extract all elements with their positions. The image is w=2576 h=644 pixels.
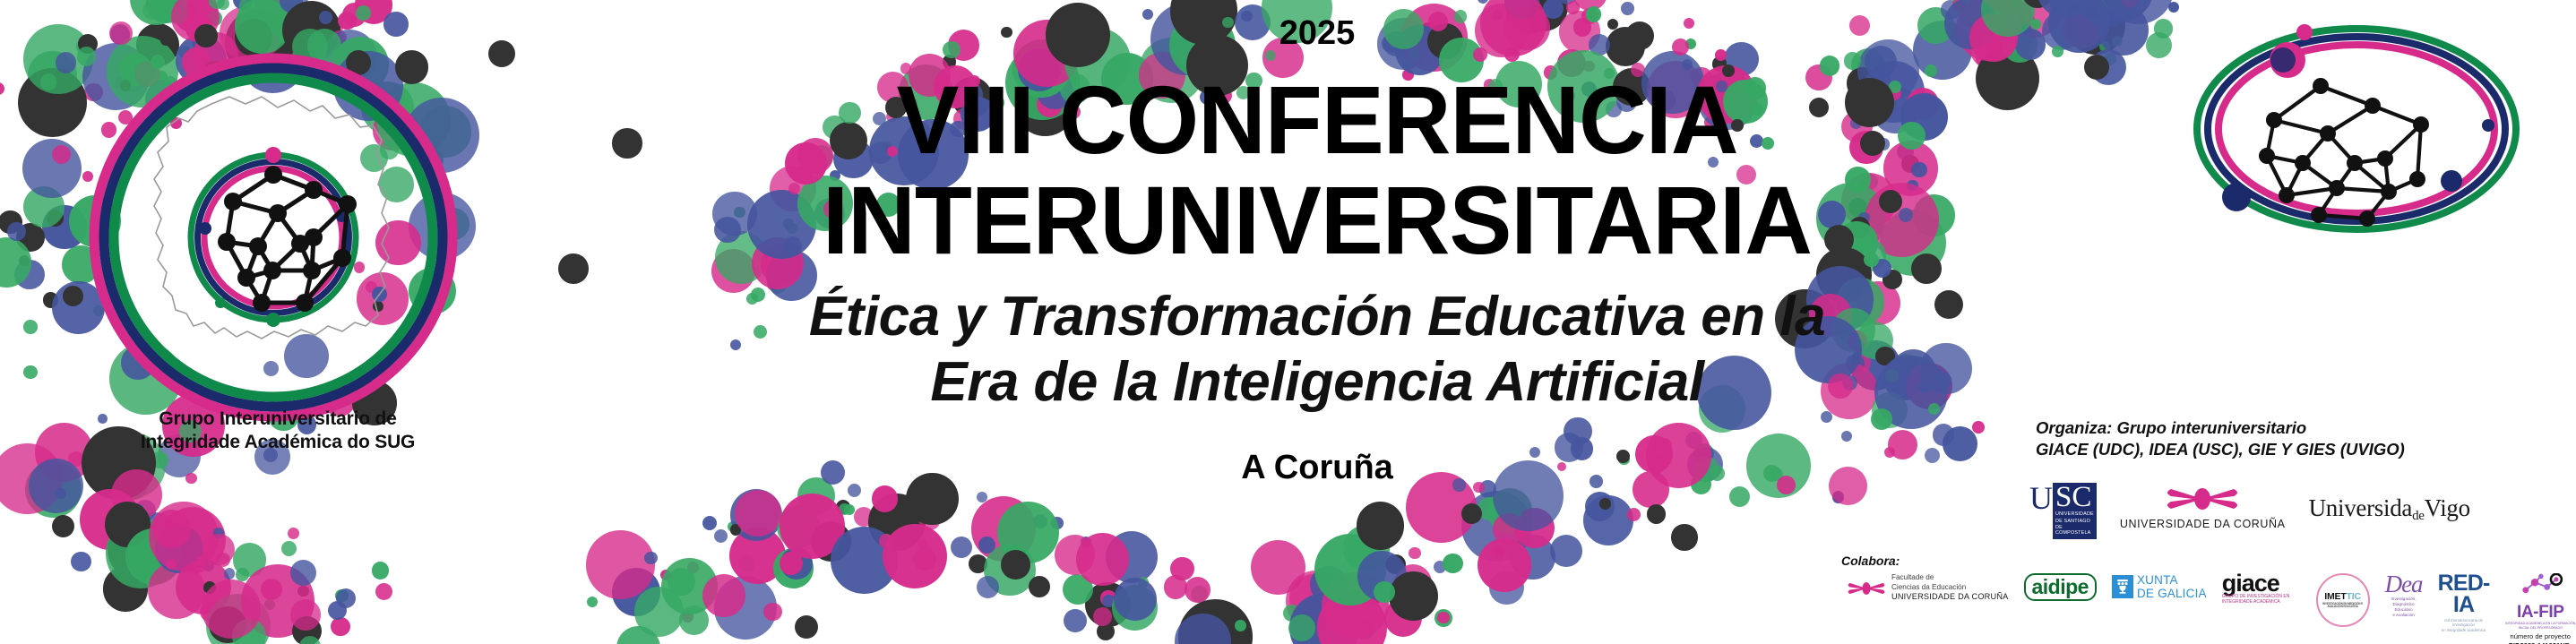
decorative-bubble bbox=[1175, 614, 1231, 644]
decorative-bubble bbox=[2101, 0, 2122, 12]
decorative-bubble bbox=[811, 521, 851, 562]
decorative-bubble bbox=[1055, 535, 1095, 575]
decorative-bubble bbox=[714, 529, 728, 543]
decorative-bubble bbox=[290, 599, 322, 631]
decorative-bubble bbox=[1097, 623, 1115, 640]
decorative-bubble bbox=[19, 255, 30, 266]
decorative-bubble bbox=[1064, 609, 1087, 632]
decorative-bubble bbox=[1478, 0, 1488, 4]
decorative-bubble bbox=[0, 82, 4, 95]
decorative-bubble bbox=[763, 603, 781, 621]
decorative-bubble bbox=[682, 611, 694, 623]
decorative-bubble bbox=[1832, 491, 1845, 503]
decorative-bubble bbox=[661, 558, 718, 614]
decorative-bubble bbox=[1941, 0, 1960, 20]
decorative-bubble bbox=[1872, 392, 1908, 428]
decorative-bubble bbox=[216, 553, 230, 567]
decorative-bubble bbox=[2005, 36, 2024, 55]
decorative-bubble bbox=[738, 555, 755, 572]
decorative-bubble bbox=[1310, 566, 1348, 604]
decorative-bubble bbox=[1854, 239, 1886, 271]
decorative-bubble bbox=[777, 505, 820, 548]
decorative-bubble bbox=[166, 559, 177, 570]
decorative-bubble bbox=[767, 279, 778, 290]
decorative-bubble bbox=[1647, 504, 1667, 524]
decorative-bubble bbox=[1883, 141, 1939, 196]
decorative-bubble bbox=[111, 469, 162, 520]
decorative-bubble bbox=[831, 527, 898, 594]
decorative-bubble bbox=[1063, 574, 1093, 605]
decorative-bubble bbox=[1969, 13, 2018, 62]
decorative-bubble bbox=[2042, 12, 2081, 50]
organiza-block: Organiza: Grupo interuniversitario GIACE… bbox=[2036, 417, 2405, 461]
decorative-bubble bbox=[971, 496, 1037, 562]
conference-title-line1: VIII CONFERENCIA bbox=[805, 70, 1831, 170]
decorative-bubble bbox=[730, 339, 741, 350]
conference-year: 2025 bbox=[788, 16, 1846, 50]
decorative-bubble bbox=[1874, 356, 1948, 429]
decorative-bubble bbox=[785, 562, 796, 572]
decorative-bubble bbox=[209, 0, 225, 9]
decorative-bubble bbox=[1981, 34, 1992, 45]
decorative-bubble bbox=[880, 534, 892, 546]
decorative-bubble bbox=[951, 537, 972, 558]
decorative-bubble bbox=[1493, 513, 1525, 545]
xunta-line2: DE GALICIA bbox=[2137, 587, 2207, 600]
decorative-bubble bbox=[921, 494, 937, 511]
decorative-bubble bbox=[1883, 356, 1927, 399]
decorative-bubble bbox=[977, 492, 988, 503]
uvigo-logo: UniversidadeVigo bbox=[2309, 494, 2470, 524]
decorative-bubble bbox=[612, 128, 642, 158]
decorative-bubble bbox=[1898, 122, 1926, 150]
ia-fip-logo: IA-FIP INTEGRIDAD ACADÉMICA EN LA FORMAC… bbox=[2504, 573, 2576, 644]
giace-mark: giace bbox=[2222, 573, 2301, 594]
fce-bowtie-icon bbox=[1846, 581, 1887, 596]
decorative-bubble bbox=[1343, 525, 1390, 571]
decorative-bubble bbox=[1863, 61, 1925, 123]
decorative-bubble bbox=[233, 543, 267, 577]
decorative-bubble bbox=[2084, 6, 2098, 20]
decorative-bubble bbox=[734, 207, 745, 219]
decorative-bubble bbox=[2011, 0, 2021, 8]
decorative-bubble bbox=[149, 502, 219, 571]
decorative-bubble bbox=[14, 260, 44, 289]
decorative-bubble bbox=[1872, 86, 1918, 133]
decorative-bubble bbox=[1322, 608, 1332, 619]
decorative-bubble bbox=[7, 222, 26, 241]
usc-box: SC UNIVERSIDADE DE SANTIAGO DE COMPOSTEL… bbox=[2053, 483, 2097, 539]
decorative-bubble bbox=[1621, 2, 1634, 15]
conference-title-line2: INTERUNIVERSITARIA bbox=[805, 170, 1831, 270]
udc-text: UNIVERSIDADE DA CORUÑA bbox=[2120, 518, 2286, 530]
decorative-bubble bbox=[2087, 0, 2153, 21]
decorative-bubble bbox=[913, 547, 936, 571]
decorative-bubble bbox=[1860, 131, 1885, 156]
decorative-bubble bbox=[1906, 363, 1952, 409]
decorative-bubble bbox=[1849, 217, 1871, 238]
xunta-de-galicia-logo: XUNTA DE GALICIA bbox=[2112, 573, 2207, 600]
xunta-shield-icon bbox=[2112, 575, 2133, 598]
decorative-bubble bbox=[209, 606, 246, 643]
giace-logo: giace GRUPO DE INVESTIGACIÓN EN INTEGRID… bbox=[2222, 573, 2301, 605]
decorative-bubble bbox=[335, 589, 348, 602]
decorative-bubble bbox=[1882, 270, 1902, 289]
idea-sub-line2: Diagnóstico Educativo bbox=[2385, 602, 2423, 613]
decorative-bubble bbox=[159, 507, 226, 573]
decorative-bubble bbox=[80, 489, 141, 550]
decorative-bubble bbox=[185, 473, 196, 484]
decorative-bubble bbox=[2104, 53, 2116, 65]
decorative-bubble bbox=[769, 276, 787, 294]
decorative-bubble bbox=[2063, 9, 2102, 48]
decorative-bubble bbox=[23, 320, 38, 334]
decorative-bubble bbox=[277, 0, 295, 17]
decorative-bubble bbox=[668, 568, 695, 596]
decorative-bubble bbox=[281, 541, 297, 556]
uvigo-part3: Vigo bbox=[2425, 494, 2470, 521]
decorative-bubble bbox=[200, 602, 220, 622]
decorative-bubble bbox=[1846, 355, 1864, 373]
decorative-bubble bbox=[612, 568, 660, 616]
organiza-line2: GIACE (UDC), IDEA (USC), GIE Y GIES (UVI… bbox=[2036, 439, 2405, 460]
usc-letter-u: U bbox=[2029, 483, 2053, 513]
decorative-bubble bbox=[1891, 349, 1937, 396]
decorative-bubble bbox=[1847, 67, 1879, 99]
decorative-bubble bbox=[997, 502, 1059, 563]
decorative-bubble bbox=[1925, 64, 1937, 77]
decorative-bubble bbox=[1317, 592, 1388, 644]
decorative-bubble bbox=[328, 601, 347, 620]
decorative-bubble bbox=[1849, 15, 1870, 36]
colabora-label: Colabora: bbox=[1841, 554, 1900, 568]
decorative-bubble bbox=[196, 556, 207, 567]
decorative-bubble bbox=[1841, 111, 1873, 142]
decorative-bubble bbox=[1901, 155, 1919, 173]
decorative-bubble bbox=[1572, 0, 1608, 11]
decorative-bubble bbox=[1913, 194, 1955, 236]
decorative-bubble bbox=[1943, 426, 1977, 461]
decorative-bubble bbox=[1566, 1, 1580, 14]
decorative-bubble bbox=[1033, 514, 1047, 528]
left-emblem-graphic bbox=[54, 18, 493, 457]
decorative-bubble bbox=[2002, 26, 2038, 62]
decorative-bubble bbox=[711, 249, 755, 293]
decorative-bubble bbox=[1874, 223, 1884, 234]
fce-line1: Facultade de bbox=[1891, 573, 2009, 583]
decorative-bubble bbox=[1952, 0, 1986, 19]
left-emblem-logo bbox=[54, 18, 493, 457]
idea-logo: Dea Investigación, Diagnóstico Educativo… bbox=[2385, 573, 2423, 618]
decorative-bubble bbox=[1492, 545, 1504, 558]
decorative-bubble bbox=[233, 0, 254, 10]
decorative-bubble bbox=[0, 237, 31, 287]
decorative-bubble bbox=[586, 530, 655, 599]
decorative-bubble bbox=[106, 519, 175, 588]
decorative-bubble bbox=[0, 210, 22, 235]
decorative-bubble bbox=[138, 520, 152, 535]
decorative-bubble bbox=[735, 490, 781, 537]
decorative-bubble bbox=[1504, 0, 1532, 17]
decorative-bubble bbox=[660, 570, 672, 581]
decorative-bubble bbox=[1100, 590, 1116, 605]
decorative-bubble bbox=[299, 636, 321, 644]
decorative-bubble bbox=[1178, 599, 1253, 644]
decorative-bubble bbox=[203, 561, 215, 572]
decorative-bubble bbox=[1887, 99, 1898, 109]
decorative-bubble bbox=[1857, 39, 1919, 101]
decorative-bubble bbox=[2006, 53, 2019, 65]
decorative-bubble bbox=[616, 626, 660, 644]
decorative-bubble bbox=[133, 504, 144, 516]
decorative-bubble bbox=[224, 568, 235, 579]
decorative-bubble bbox=[1354, 619, 1374, 640]
decorative-bubble bbox=[202, 580, 261, 639]
decorative-bubble bbox=[1934, 290, 1963, 319]
decorative-bubble bbox=[1550, 535, 1582, 567]
idea-mark: Dea bbox=[2385, 573, 2423, 595]
usc-sub-line2: DE SANTIAGO bbox=[2055, 519, 2090, 524]
facultade-ciencias-educacion-logo: Facultade de Ciencias da Educación UNIVE… bbox=[1846, 573, 2009, 603]
decorative-bubble bbox=[1514, 508, 1555, 548]
decorative-bubble bbox=[1900, 101, 1917, 118]
decorative-bubble bbox=[1357, 577, 1384, 605]
decorative-bubble bbox=[236, 568, 249, 581]
decorative-bubble bbox=[1865, 183, 1939, 257]
decorative-bubble bbox=[1928, 403, 1940, 415]
decorative-bubble bbox=[1848, 331, 1868, 351]
decorative-bubble bbox=[1854, 339, 1865, 350]
decorative-bubble bbox=[1976, 47, 2039, 110]
red-ia-mark: RED-IA bbox=[2438, 573, 2490, 616]
decorative-bubble bbox=[142, 1, 161, 20]
decorative-bubble bbox=[1114, 578, 1158, 622]
decorative-bubble bbox=[1033, 587, 1044, 597]
idea-sub-line3: e Avaliación bbox=[2385, 613, 2423, 618]
decorative-bubble bbox=[1907, 88, 1939, 120]
decorative-bubble bbox=[795, 615, 818, 639]
decorative-bubble bbox=[2052, 46, 2063, 57]
decorative-bubble bbox=[1933, 424, 1954, 445]
center-text-block: 2025 VIII CONFERENCIA INTERUNIVERSITARIA… bbox=[788, 16, 1846, 487]
decorative-bubble bbox=[2128, 0, 2139, 9]
decorative-bubble bbox=[280, 0, 302, 13]
imettic-mark-imet: IMET bbox=[2324, 591, 2346, 602]
decorative-bubble bbox=[52, 515, 74, 537]
decorative-bubble bbox=[1960, 3, 1985, 28]
decorative-bubble bbox=[746, 293, 758, 305]
decorative-bubble bbox=[712, 192, 757, 236]
decorative-bubble bbox=[839, 503, 849, 514]
decorative-bubble bbox=[1976, 0, 2036, 56]
decorative-bubble bbox=[2066, 0, 2125, 55]
decorative-bubble bbox=[644, 552, 657, 564]
decorative-bubble bbox=[1917, 7, 1954, 44]
decorative-bubble bbox=[1235, 620, 1246, 631]
decorative-bubble bbox=[1671, 524, 1697, 550]
decorative-bubble bbox=[84, 467, 101, 484]
decorative-bubble bbox=[1112, 585, 1158, 631]
decorative-bubble bbox=[2090, 49, 2126, 85]
decorative-bubble bbox=[1389, 571, 1438, 621]
decorative-bubble bbox=[751, 288, 765, 302]
decorative-bubble bbox=[1029, 576, 1050, 597]
ia-fip-mark: IA-FIP bbox=[2504, 604, 2576, 621]
decorative-bubble bbox=[23, 365, 38, 380]
decorative-bubble bbox=[1314, 534, 1386, 605]
decorative-bubble bbox=[1968, 12, 2029, 73]
decorative-bubble bbox=[1251, 540, 1305, 595]
left-emblem-caption: Grupo Interuniversitario de Integridade … bbox=[90, 408, 466, 453]
fce-line3: UNIVERSIDADE DA CORUÑA bbox=[1891, 592, 2009, 603]
decorative-bubble bbox=[1911, 253, 1942, 284]
decorative-bubble bbox=[634, 587, 684, 636]
colabora-logos-row: Facultade de Ciencias da Educación UNIVE… bbox=[1846, 573, 2576, 638]
decorative-bubble bbox=[1900, 93, 1948, 141]
aidipe-logo: aidipe bbox=[2024, 573, 2097, 601]
decorative-bubble bbox=[883, 524, 947, 588]
decorative-bubble bbox=[1490, 550, 1502, 562]
xunta-chalice-icon bbox=[2115, 578, 2131, 596]
decorative-bubble bbox=[1289, 574, 1340, 624]
decorative-bubble bbox=[253, 0, 300, 17]
xunta-line1: XUNTA bbox=[2137, 573, 2207, 587]
decorative-bubble bbox=[1001, 550, 1030, 580]
decorative-bubble bbox=[1409, 547, 1421, 560]
decorative-bubble bbox=[854, 507, 874, 528]
decorative-bubble bbox=[1890, 365, 1923, 399]
decorative-bubble bbox=[1385, 554, 1405, 574]
decorative-bubble bbox=[1884, 447, 1895, 458]
decorative-bubble bbox=[1283, 605, 1300, 622]
conference-banner: Grupo Interuniversitario de Integridade … bbox=[0, 0, 2576, 644]
decorative-bubble bbox=[1102, 595, 1115, 607]
imettic-logo: IMETTIC INVESTIGACIÓN EN MEDICIÓN E AVAL… bbox=[2316, 573, 2370, 627]
decorative-bubble bbox=[1925, 448, 1940, 463]
decorative-bubble bbox=[1918, 381, 1931, 393]
decorative-bubble bbox=[264, 599, 275, 610]
decorative-bubble bbox=[1936, 373, 1951, 387]
decorative-bubble bbox=[1911, 162, 1926, 177]
decorative-bubble bbox=[29, 459, 83, 513]
decorative-bubble bbox=[1164, 575, 1187, 598]
decorative-bubble bbox=[1408, 585, 1425, 602]
decorative-bubble bbox=[103, 566, 148, 611]
decorative-bubble bbox=[827, 538, 848, 559]
decorative-bubble bbox=[1972, 421, 1984, 433]
decorative-bubble bbox=[1858, 286, 1870, 297]
decorative-bubble bbox=[1478, 538, 1531, 592]
imettic-sub: INVESTIGACIÓN EN MEDICIÓN E AVALIACIÓN E… bbox=[2318, 603, 2368, 608]
decorative-bubble bbox=[1865, 46, 1897, 78]
decorative-bubble bbox=[1461, 491, 1532, 562]
decorative-bubble bbox=[1384, 598, 1423, 637]
decorative-bubble bbox=[1583, 495, 1633, 545]
left-emblem-caption-line2: Integridade Académica do SUG bbox=[90, 431, 466, 454]
decorative-bubble bbox=[1880, 73, 1891, 84]
decorative-bubble bbox=[217, 0, 229, 10]
decorative-bubble bbox=[1956, 0, 2021, 61]
decorative-bubble bbox=[978, 537, 995, 554]
decorative-bubble bbox=[714, 217, 741, 244]
uvigo-part1: Universida bbox=[2309, 494, 2412, 521]
decorative-bubble bbox=[774, 273, 785, 284]
decorative-bubble bbox=[2020, 24, 2031, 35]
usc-letters-sc: SC bbox=[2055, 484, 2091, 511]
decorative-bubble bbox=[1846, 284, 1859, 297]
decorative-bubble bbox=[71, 552, 91, 572]
decorative-bubble bbox=[2004, 41, 2023, 60]
decorative-bubble bbox=[155, 525, 203, 573]
left-emblem-caption-line1: Grupo Interuniversitario de bbox=[90, 408, 466, 431]
decorative-bubble bbox=[1907, 180, 1917, 191]
decorative-bubble bbox=[702, 516, 718, 531]
decorative-bubble bbox=[1322, 572, 1388, 639]
red-ia-sub-line2: en integridade académica bbox=[2438, 628, 2490, 633]
decorative-bubble bbox=[1081, 537, 1091, 547]
decorative-bubble bbox=[1850, 117, 1862, 129]
decorative-bubble bbox=[1510, 535, 1555, 580]
decorative-bubble bbox=[1290, 614, 1310, 634]
decorative-bubble bbox=[134, 527, 147, 540]
decorative-bubble bbox=[2015, 29, 2046, 59]
decorative-bubble bbox=[1557, 0, 1578, 4]
decorative-bubble bbox=[1845, 167, 1871, 193]
decorative-bubble bbox=[134, 500, 157, 522]
decorative-bubble bbox=[780, 547, 813, 580]
decorative-bubble bbox=[1304, 597, 1321, 614]
usc-sub-line1: UNIVERSIDADE bbox=[2055, 511, 2094, 517]
decorative-bubble bbox=[1856, 322, 1893, 359]
decorative-bubble bbox=[918, 508, 942, 531]
decorative-bubble bbox=[1434, 561, 1446, 573]
decorative-bubble bbox=[977, 576, 999, 598]
decorative-bubble bbox=[1487, 488, 1533, 534]
decorative-bubble bbox=[1897, 143, 1914, 160]
decorative-bubble bbox=[1857, 281, 1900, 325]
red-ia-sub-line1: red iberoamericana de investigación bbox=[2438, 618, 2490, 629]
decorative-bubble bbox=[261, 579, 282, 600]
decorative-bubble bbox=[1862, 174, 1878, 190]
decorative-bubble bbox=[1288, 614, 1315, 641]
decorative-bubble bbox=[1729, 486, 1750, 507]
decorative-bubble bbox=[125, 528, 182, 585]
decorative-bubble bbox=[868, 494, 926, 551]
decorative-bubble bbox=[375, 583, 393, 601]
udc-logo: UNIVERSIDADE DA CORUÑA bbox=[2120, 487, 2286, 530]
decorative-bubble bbox=[1357, 502, 1405, 550]
decorative-bubble bbox=[1289, 593, 1359, 644]
decorative-bubble bbox=[16, 223, 45, 252]
decorative-bubble bbox=[1076, 533, 1129, 586]
decorative-bubble bbox=[2078, 0, 2136, 27]
decorative-bubble bbox=[288, 528, 299, 539]
decorative-bubble bbox=[271, 0, 296, 4]
decorative-bubble bbox=[152, 510, 191, 548]
decorative-bubble bbox=[1848, 198, 1867, 217]
decorative-bubble bbox=[1913, 21, 1972, 80]
decorative-bubble bbox=[1191, 586, 1209, 604]
decorative-bubble bbox=[2037, 0, 2094, 18]
decorative-bubble bbox=[2122, 0, 2139, 8]
decorative-bubble bbox=[1286, 571, 1347, 631]
decorative-bubble bbox=[679, 605, 709, 635]
decorative-bubble bbox=[1851, 48, 1886, 83]
decorative-bubble bbox=[1981, 0, 2035, 37]
decorative-bubble bbox=[25, 461, 82, 518]
decorative-bubble bbox=[879, 534, 893, 548]
decorative-bubble bbox=[1585, 492, 1615, 521]
